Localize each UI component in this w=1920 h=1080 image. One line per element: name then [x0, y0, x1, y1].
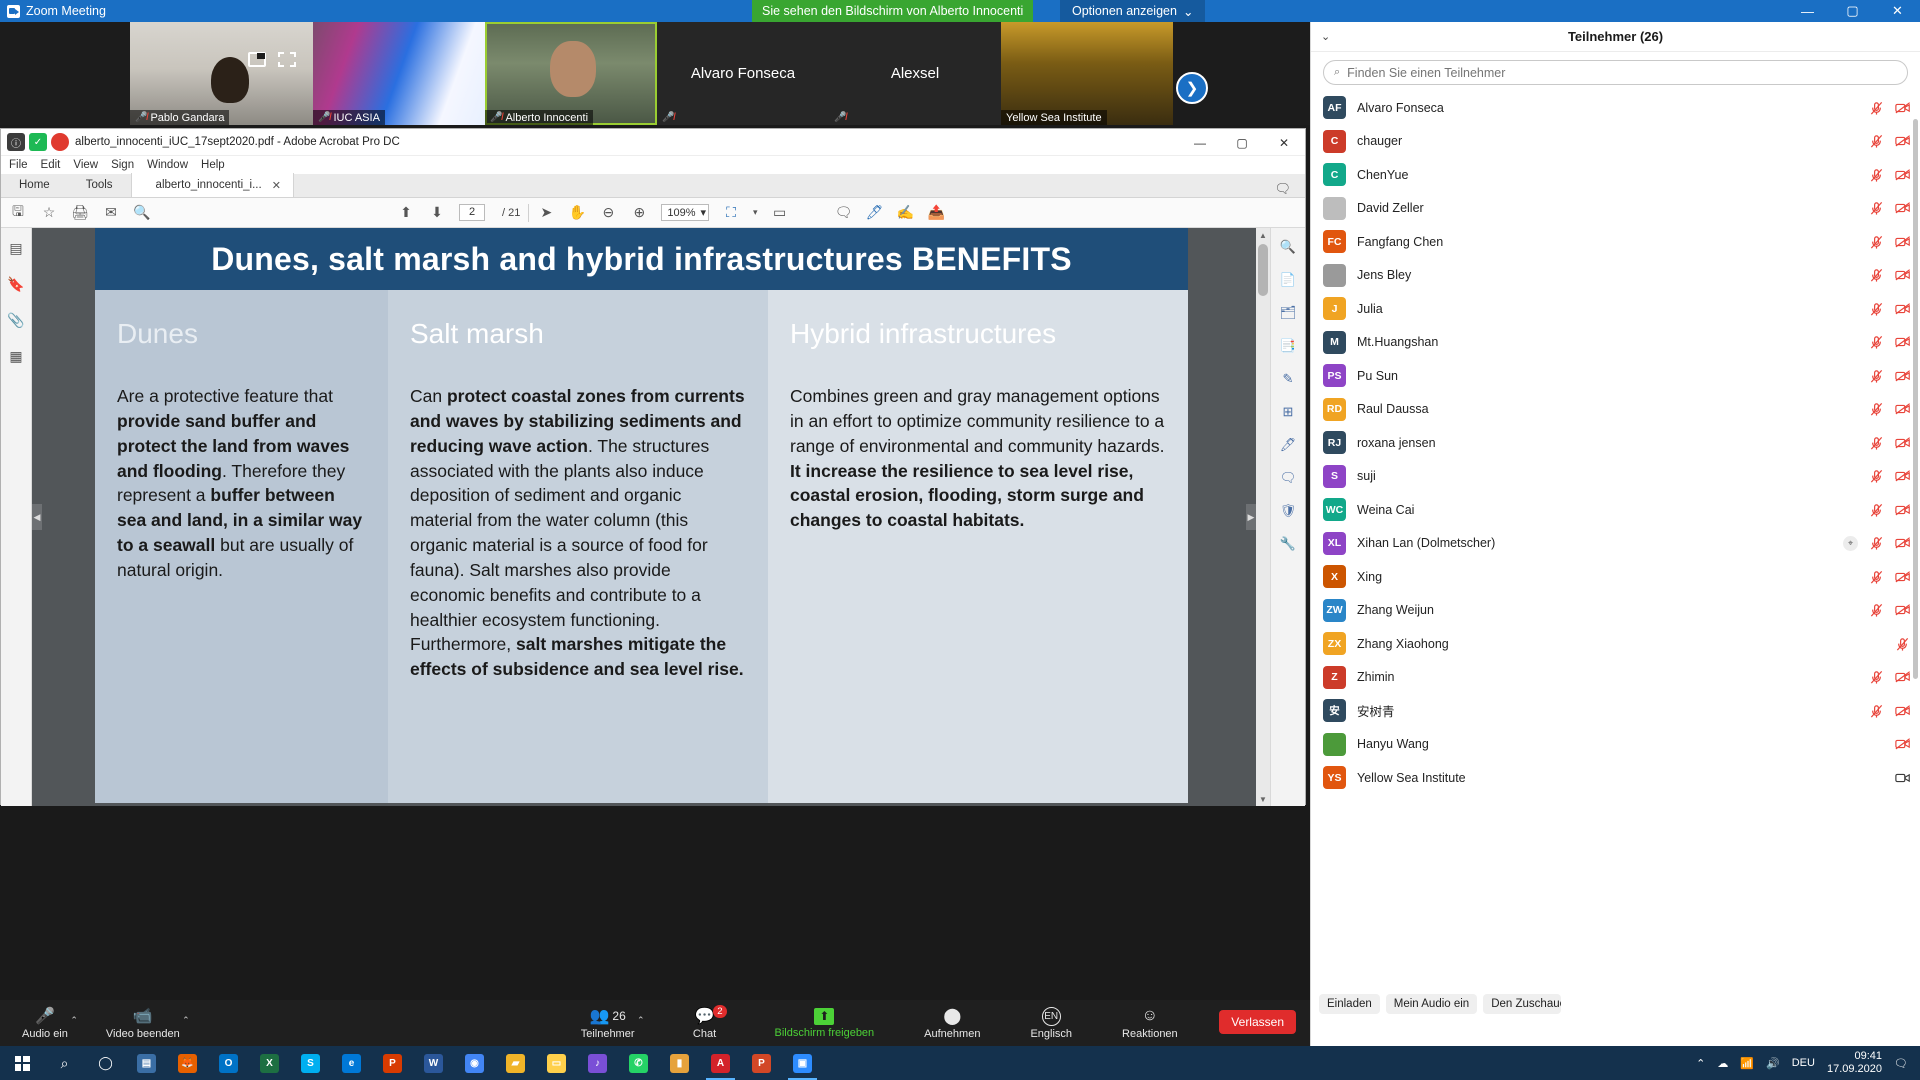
- toolbar-annotate-group: 🗨 🖊 ✍ 📤: [827, 204, 954, 222]
- acrobat-tabbar: Home Tools alberto_innocenti_i... ✕ 🗨: [1, 174, 1305, 198]
- participant-status-icons: [1869, 201, 1910, 215]
- shield-icon: ✓: [29, 133, 47, 151]
- participant-row[interactable]: FCFangfang Chen: [1311, 225, 1920, 259]
- powerpoint-icon: P: [752, 1054, 771, 1073]
- taskbar-app-word[interactable]: W: [413, 1046, 454, 1080]
- mic-off-icon[interactable]: [1869, 101, 1884, 115]
- toolbar-tools-group: ➤ ✋ ⊖ ⊕ 109% ▾ ⛶ ▾ ▭: [529, 204, 796, 222]
- participant-name: chauger: [1357, 134, 1858, 148]
- participant-status-icons: [1895, 637, 1910, 651]
- zoom-in-icon[interactable]: ⊕: [630, 204, 648, 222]
- participant-row[interactable]: Ssuji: [1311, 460, 1920, 494]
- participant-status-icons: [1869, 101, 1910, 115]
- zoom-window-buttons: — ▢ ✕: [1785, 0, 1920, 22]
- create-pdf-icon[interactable]: 📄: [1277, 269, 1299, 291]
- mic-off-icon[interactable]: [1869, 235, 1884, 249]
- page-total-label: / 21: [502, 207, 520, 219]
- share-options-label: Optionen anzeigen: [1072, 4, 1177, 18]
- share-document-icon[interactable]: 📤: [928, 204, 946, 222]
- participant-name: Hanyu Wang: [1357, 737, 1884, 751]
- participant-row[interactable]: RJroxana jensen: [1311, 426, 1920, 460]
- menu-sign[interactable]: Sign: [111, 159, 134, 171]
- mic-off-icon: 🎤̸: [135, 112, 147, 123]
- slide-column-dunes: Dunes Are a protective feature that prov…: [95, 290, 388, 803]
- participant-search-box[interactable]: ⌕: [1323, 60, 1908, 85]
- participant-name: Zhang Weijun: [1357, 603, 1858, 617]
- export-pdf-icon[interactable]: 📑: [1277, 335, 1299, 357]
- participant-avatar: YS: [1323, 766, 1346, 789]
- menu-window[interactable]: Window: [147, 159, 188, 171]
- camera-off-icon[interactable]: [1895, 704, 1910, 718]
- interpretation-button[interactable]: EN Englisch: [1022, 1007, 1080, 1040]
- chevron-down-icon[interactable]: ▾: [753, 207, 758, 218]
- video-button[interactable]: 📹 Video beenden ⌃: [98, 1007, 188, 1040]
- participant-row[interactable]: MMt.Huangshan: [1311, 326, 1920, 360]
- share-options-button[interactable]: Optionen anzeigen ⌄: [1060, 0, 1205, 22]
- participants-panel-title: Teilnehmer (26): [1568, 29, 1663, 44]
- toolbar-nav-group: ⬆ ⬇ 2 / 21: [389, 204, 528, 222]
- share-screen-button[interactable]: ⬆ Bildschirm freigeben: [767, 1008, 883, 1039]
- taskbar-app-audacity[interactable]: ▮: [659, 1046, 700, 1080]
- page-thumbnails-icon[interactable]: ▤: [6, 238, 26, 258]
- leave-meeting-button[interactable]: Verlassen: [1219, 1010, 1296, 1034]
- zoom-toolbar-center: 👥26 Teilnehmer ⌃ 💬 2 Chat ⬆ Bildschirm f…: [573, 1007, 1186, 1040]
- taskbar-clock[interactable]: 09:41 17.09.2020: [1827, 1050, 1882, 1076]
- video-label: Video beenden: [106, 1028, 180, 1040]
- participant-name: Xihan Lan (Dolmetscher): [1357, 536, 1832, 550]
- search-icon[interactable]: 🔍: [133, 204, 151, 222]
- camera-off-icon[interactable]: [1895, 536, 1910, 550]
- mic-off-icon[interactable]: [1869, 503, 1884, 517]
- mic-off-icon[interactable]: [1869, 402, 1884, 416]
- tab-home[interactable]: Home: [1, 173, 68, 197]
- video-tile-namebar: 🎤̸: [829, 110, 851, 125]
- camera-off-icon[interactable]: [1895, 670, 1910, 684]
- mic-off-icon[interactable]: [1869, 469, 1884, 483]
- tray-expand-icon[interactable]: ⌃: [1696, 1057, 1705, 1070]
- protect-icon[interactable]: 🛡: [1277, 500, 1299, 522]
- camera-off-icon[interactable]: [1895, 235, 1910, 249]
- mic-off-icon[interactable]: [1869, 302, 1884, 316]
- mic-off-icon[interactable]: [1869, 134, 1884, 148]
- pdf-document-area[interactable]: Dunes, salt marsh and hybrid infrastruct…: [32, 228, 1270, 806]
- mic-off-icon[interactable]: [1869, 201, 1884, 215]
- video-tile-namebar: Yellow Sea Institute: [1001, 110, 1107, 125]
- video-tile-namebar: 🎤̸ Pablo Gandara: [130, 110, 229, 125]
- audio-label: Audio ein: [22, 1028, 68, 1040]
- taskbar-app-task-view[interactable]: ▤: [126, 1046, 167, 1080]
- participants-button[interactable]: 👥26 Teilnehmer ⌃: [573, 1007, 643, 1040]
- participant-avatar: S: [1323, 465, 1346, 488]
- participant-status-icons: [1869, 235, 1910, 249]
- mic-off-icon[interactable]: [1869, 369, 1884, 383]
- camera-off-icon[interactable]: [1895, 436, 1910, 450]
- mic-off-icon[interactable]: [1869, 536, 1884, 550]
- column-body: Combines green and gray management optio…: [790, 384, 1166, 533]
- maximize-button[interactable]: ▢: [1830, 0, 1875, 22]
- participant-name: Xing: [1357, 570, 1858, 584]
- scrollbar-thumb[interactable]: [1258, 244, 1268, 296]
- close-tab-icon[interactable]: ✕: [272, 179, 281, 192]
- minimize-view-icon[interactable]: [248, 52, 266, 67]
- bookmarks-icon[interactable]: 🔖: [6, 274, 26, 294]
- taskbar-search-button[interactable]: ⌕: [44, 1046, 85, 1080]
- menu-view[interactable]: View: [73, 159, 98, 171]
- participant-status-icons: [1869, 670, 1910, 684]
- slide-columns: Dunes Are a protective feature that prov…: [95, 290, 1188, 803]
- participants-list[interactable]: AFAlvaro FonsecaCchaugerCChenYueDavid Ze…: [1311, 91, 1920, 997]
- mic-off-icon: 🎤̸: [662, 112, 674, 123]
- zoom-logo-icon: [7, 5, 20, 18]
- mic-off-icon[interactable]: [1869, 335, 1884, 349]
- participant-status-icons: [1869, 603, 1910, 617]
- video-tile-alvaro-fonseca[interactable]: Alvaro Fonseca 🎤̸: [657, 22, 829, 125]
- fill-sign-icon[interactable]: 🖊: [1277, 434, 1299, 456]
- participant-name: Julia: [1357, 302, 1858, 316]
- camera-off-icon[interactable]: [1895, 101, 1910, 115]
- next-page-icon[interactable]: ⬇: [428, 204, 446, 222]
- clock-time: 09:41: [1855, 1050, 1883, 1063]
- record-label: Aufnehmen: [924, 1028, 980, 1040]
- mic-off-icon[interactable]: [1869, 268, 1884, 282]
- camera-on-icon[interactable]: [1895, 771, 1910, 785]
- close-button[interactable]: ✕: [1875, 0, 1920, 22]
- video-tile-namebar: 🎤̸: [657, 110, 679, 125]
- taskbar-app-chrome[interactable]: ◉: [454, 1046, 495, 1080]
- zoom-icon: ▣: [793, 1054, 812, 1073]
- participant-name: Zhang Xiaohong: [1357, 637, 1884, 651]
- participant-row[interactable]: YSYellow Sea Institute: [1311, 761, 1920, 795]
- participant-row[interactable]: Jens Bley: [1311, 259, 1920, 293]
- participant-name: Mt.Huangshan: [1357, 335, 1858, 349]
- edit-pdf-icon[interactable]: ✎: [1277, 368, 1299, 390]
- folder-icon: ▰: [506, 1054, 525, 1073]
- participant-status-icons: [1895, 771, 1910, 785]
- explorer-icon: ▭: [547, 1054, 566, 1073]
- participant-avatar: PS: [1323, 364, 1346, 387]
- acrobat-window-buttons: — ▢ ✕: [1179, 129, 1305, 156]
- video-tile-pablo-gandara[interactable]: 🎤̸ Pablo Gandara: [130, 22, 313, 125]
- video-options-caret-icon[interactable]: ⌃: [182, 1015, 190, 1026]
- participant-status-icons: [1869, 570, 1910, 584]
- pdf-page: Dunes, salt marsh and hybrid infrastruct…: [95, 228, 1188, 803]
- comment-tool-icon[interactable]: 🗨: [1277, 467, 1299, 489]
- slide-title: Dunes, salt marsh and hybrid infrastruct…: [211, 241, 1072, 278]
- camera-icon: 📹: [133, 1007, 153, 1026]
- select-cursor-icon[interactable]: ➤: [537, 204, 555, 222]
- taskbar-app-excel[interactable]: X: [249, 1046, 290, 1080]
- scroll-down-arrow[interactable]: ▼: [1256, 792, 1270, 806]
- participants-panel: ⌄ Teilnehmer (26) ⌕ AFAlvaro FonsecaCcha…: [1310, 22, 1920, 1046]
- zoom-titlebar: Zoom Meeting Sie sehen den Bildschirm vo…: [0, 0, 1920, 22]
- audio-button[interactable]: 🎤 Audio ein ⌃: [14, 1007, 76, 1040]
- tab-tools[interactable]: Tools: [68, 173, 131, 197]
- minimize-button[interactable]: —: [1785, 0, 1830, 22]
- participant-status-icons: [1869, 335, 1910, 349]
- slide-column-salt-marsh: Salt marsh Can protect coastal zones fro…: [388, 290, 768, 803]
- camera-off-icon[interactable]: [1895, 603, 1910, 617]
- participant-status-icons: [1869, 268, 1910, 282]
- participant-avatar: C: [1323, 163, 1346, 186]
- tab-document[interactable]: alberto_innocenti_i... ✕: [131, 173, 294, 197]
- firefox-icon: 🦊: [178, 1054, 197, 1073]
- collapse-right-panel-handle[interactable]: ▶: [1246, 504, 1256, 530]
- taskbar-app-outlook[interactable]: O: [208, 1046, 249, 1080]
- participant-search-input[interactable]: [1347, 66, 1897, 80]
- camera-off-icon[interactable]: [1895, 302, 1910, 316]
- camera-off-icon[interactable]: [1895, 570, 1910, 584]
- taskbar-app-folder[interactable]: ▰: [495, 1046, 536, 1080]
- participant-row[interactable]: CChenYue: [1311, 158, 1920, 192]
- mic-off-icon[interactable]: [1869, 670, 1884, 684]
- camera-off-icon[interactable]: [1895, 168, 1910, 182]
- pdf-vertical-scrollbar[interactable]: ▲ ▼: [1256, 228, 1270, 806]
- participant-status-icons: [1869, 168, 1910, 182]
- participant-row[interactable]: XXing: [1311, 560, 1920, 594]
- reactions-smiley-icon: ☺: [1142, 1007, 1158, 1026]
- taskbar-app-edge[interactable]: e: [331, 1046, 372, 1080]
- taskbar-app-powerpoint[interactable]: P: [741, 1046, 782, 1080]
- record-button[interactable]: ⬤ Aufnehmen: [916, 1007, 988, 1040]
- acrobat-titlebar: ⓘ ✓ alberto_innocenti_iUC_17sept2020.pdf…: [1, 129, 1305, 156]
- mic-off-icon[interactable]: [1869, 168, 1884, 182]
- taskbar-app-paint[interactable]: P: [372, 1046, 413, 1080]
- video-tile-name: Alberto Innocenti: [505, 112, 588, 124]
- participant-status-icons: [1869, 436, 1910, 450]
- taskbar-app-whatsapp[interactable]: ✆: [618, 1046, 659, 1080]
- camera-off-icon[interactable]: [1895, 335, 1910, 349]
- acrobat-toolbar: 🖫 ☆ 🖨 ✉ 🔍 ⬆ ⬇ 2 / 21 ➤ ✋ ⊖ ⊕ 109%: [1, 198, 1305, 228]
- participant-status-icons: [1869, 704, 1910, 718]
- participant-status-icons: [1869, 134, 1910, 148]
- camera-off-icon[interactable]: [1895, 134, 1910, 148]
- participant-row[interactable]: Hanyu Wang: [1311, 728, 1920, 762]
- participant-status-icons: [1895, 737, 1910, 751]
- participant-name: Weina Cai: [1357, 503, 1858, 517]
- collapse-panel-icon[interactable]: ⌄: [1321, 30, 1330, 43]
- fit-page-icon[interactable]: ⛶: [722, 204, 740, 222]
- scroll-up-arrow[interactable]: ▲: [1256, 228, 1270, 242]
- collapse-left-panel-handle[interactable]: ◀: [32, 504, 42, 530]
- video-tile-iuc-asia[interactable]: 🎤̸ IUC ASIA: [313, 22, 485, 125]
- search-icon: ⌕: [1334, 66, 1340, 79]
- participant-row[interactable]: JJulia: [1311, 292, 1920, 326]
- participant-status-icons: [1869, 369, 1910, 383]
- mic-off-icon[interactable]: [1869, 603, 1884, 617]
- participants-scrollbar-thumb[interactable]: [1913, 119, 1918, 679]
- zoom-toolbar-left: 🎤 Audio ein ⌃ 📹 Video beenden ⌃: [14, 1007, 188, 1040]
- notifications-icon[interactable]: 🗨: [1894, 1057, 1908, 1070]
- participant-row[interactable]: PSPu Sun: [1311, 359, 1920, 393]
- column-heading: Salt marsh: [410, 318, 746, 350]
- participant-name: Yellow Sea Institute: [1357, 771, 1884, 785]
- chevron-down-icon: ⌄: [1183, 4, 1193, 19]
- participant-avatar: 安: [1323, 699, 1346, 722]
- keyboard-language[interactable]: DEU: [1792, 1057, 1815, 1069]
- participant-avatar: C: [1323, 130, 1346, 153]
- column-heading: Dunes: [117, 318, 366, 350]
- video-tile-name: Pablo Gandara: [150, 112, 224, 124]
- camera-off-icon[interactable]: [1895, 503, 1910, 517]
- star-icon[interactable]: ☆: [40, 204, 58, 222]
- fullscreen-icon[interactable]: [278, 52, 296, 67]
- video-tile-name: IUC ASIA: [333, 112, 379, 124]
- camera-off-icon[interactable]: [1895, 369, 1910, 383]
- participant-status-icons: [1869, 503, 1910, 517]
- participant-row[interactable]: ZWZhang Weijun: [1311, 594, 1920, 628]
- acrobat-minimize-button[interactable]: —: [1179, 129, 1221, 156]
- reactions-button[interactable]: ☺ Reaktionen: [1114, 1007, 1186, 1040]
- audio-options-caret-icon[interactable]: ⌃: [70, 1015, 78, 1026]
- hand-tool-icon[interactable]: ✋: [568, 204, 586, 222]
- mic-off-icon[interactable]: [1895, 637, 1910, 651]
- layers-icon[interactable]: ▦: [6, 346, 26, 366]
- previous-page-icon[interactable]: ⬆: [397, 204, 415, 222]
- participant-name: Pu Sun: [1357, 369, 1858, 383]
- taskbar-app-skype[interactable]: S: [290, 1046, 331, 1080]
- share-screen-label: Bildschirm freigeben: [775, 1027, 875, 1039]
- unmute-me-button[interactable]: Mein Audio ein: [1386, 994, 1477, 1014]
- mic-off-icon: 🎤̸: [834, 112, 846, 123]
- participants-panel-footer: Einladen Mein Audio ein Den Zuschauern g…: [1311, 989, 1569, 1019]
- save-icon[interactable]: 🖫: [9, 204, 27, 222]
- filmstrip-spacer: [0, 22, 130, 125]
- edge-icon: e: [342, 1054, 361, 1073]
- taskbar-app-list: ▤🦊OXSePW◉▰▭♪✆▮AP▣: [126, 1046, 823, 1080]
- camera-off-icon[interactable]: [1895, 737, 1910, 751]
- participant-row[interactable]: RDRaul Daussa: [1311, 393, 1920, 427]
- mic-off-icon: 🎤: [35, 1007, 55, 1026]
- chat-button[interactable]: 💬 2 Chat: [677, 1007, 733, 1040]
- task-view-icon: ▤: [137, 1054, 156, 1073]
- filmstrip-view-icons: [248, 52, 296, 67]
- participants-count: 26: [612, 1009, 625, 1023]
- taskbar-app-media[interactable]: ♪: [577, 1046, 618, 1080]
- video-tile-placeholder-name: Alexsel: [891, 65, 939, 82]
- video-tile-alberto-innocenti[interactable]: 🎤̸ Alberto Innocenti: [485, 22, 657, 125]
- participant-avatar: RD: [1323, 398, 1346, 421]
- zoom-out-icon[interactable]: ⊖: [599, 204, 617, 222]
- participant-row[interactable]: WCWeina Cai: [1311, 493, 1920, 527]
- taskbar-app-zoom[interactable]: ▣: [782, 1046, 823, 1080]
- video-tile-yellow-sea-institute[interactable]: Yellow Sea Institute: [1001, 22, 1173, 125]
- participant-row[interactable]: David Zeller: [1311, 192, 1920, 226]
- invite-button[interactable]: Einladen: [1319, 994, 1380, 1014]
- participants-icon: 👥26: [589, 1007, 625, 1026]
- screen-share-banner: Sie sehen den Bildschirm von Alberto Inn…: [752, 0, 1033, 22]
- participant-avatar: FC: [1323, 230, 1346, 253]
- comment-balloon-icon[interactable]: 🗨: [1274, 181, 1291, 197]
- allow-attendees-button[interactable]: Den Zuschauern gestatten, di: [1483, 994, 1561, 1014]
- participant-avatar: J: [1323, 297, 1346, 320]
- participant-row[interactable]: XLXihan Lan (Dolmetscher)⌖: [1311, 527, 1920, 561]
- participant-avatar: ZX: [1323, 632, 1346, 655]
- network-icon[interactable]: 📶: [1740, 1057, 1754, 1070]
- info-icon: ⓘ: [7, 133, 25, 151]
- taskbar-cortana-button[interactable]: ◯: [85, 1046, 126, 1080]
- participants-caret-icon[interactable]: ⌃: [637, 1015, 645, 1026]
- sign-icon[interactable]: ✍: [897, 204, 915, 222]
- participant-avatar: XL: [1323, 532, 1346, 555]
- read-mode-icon[interactable]: ▭: [771, 204, 789, 222]
- participant-row[interactable]: Cchauger: [1311, 125, 1920, 159]
- start-button[interactable]: [0, 1046, 44, 1080]
- camera-off-icon[interactable]: [1895, 201, 1910, 215]
- menu-help[interactable]: Help: [201, 159, 225, 171]
- onedrive-icon[interactable]: ☁: [1717, 1057, 1728, 1070]
- page-number-input[interactable]: 2: [459, 204, 485, 221]
- email-icon[interactable]: ✉: [102, 204, 120, 222]
- comment-icon[interactable]: 🗨: [835, 204, 853, 222]
- zoom-level-select[interactable]: 109% ▾: [661, 204, 709, 221]
- volume-icon[interactable]: 🔊: [1766, 1057, 1780, 1070]
- camera-off-icon[interactable]: [1895, 402, 1910, 416]
- combine-files-icon[interactable]: 🗂: [1277, 302, 1299, 324]
- participant-name: Jens Bley: [1357, 268, 1858, 282]
- taskbar-app-acrobat[interactable]: A: [700, 1046, 741, 1080]
- print-icon[interactable]: 🖨: [71, 204, 89, 222]
- skype-icon: S: [301, 1054, 320, 1073]
- attachments-icon[interactable]: 📎: [6, 310, 26, 330]
- participant-row[interactable]: AFAlvaro Fonseca: [1311, 91, 1920, 125]
- highlight-icon[interactable]: 🖊: [866, 204, 884, 222]
- acrobat-maximize-button[interactable]: ▢: [1221, 129, 1263, 156]
- organize-pages-icon[interactable]: ⊞: [1277, 401, 1299, 423]
- mic-off-icon[interactable]: [1869, 704, 1884, 718]
- participant-avatar: [1323, 264, 1346, 287]
- whatsapp-icon: ✆: [629, 1054, 648, 1073]
- taskbar-app-firefox[interactable]: 🦊: [167, 1046, 208, 1080]
- participant-avatar: WC: [1323, 498, 1346, 521]
- participant-name: David Zeller: [1357, 201, 1858, 215]
- reactions-label: Reaktionen: [1122, 1028, 1178, 1040]
- excel-icon: X: [260, 1054, 279, 1073]
- participant-row[interactable]: 安安树青: [1311, 694, 1920, 728]
- taskbar-app-explorer[interactable]: ▭: [536, 1046, 577, 1080]
- acrobat-title-icons: ⓘ ✓: [1, 133, 69, 151]
- menu-file[interactable]: File: [9, 159, 28, 171]
- participant-row[interactable]: ZZhimin: [1311, 661, 1920, 695]
- search-tool-icon[interactable]: 🔍: [1277, 236, 1299, 258]
- participant-name: roxana jensen: [1357, 436, 1858, 450]
- camera-off-icon[interactable]: [1895, 469, 1910, 483]
- record-dot-icon: [51, 133, 69, 151]
- participant-avatar: [1323, 197, 1346, 220]
- mic-off-icon[interactable]: [1869, 436, 1884, 450]
- mic-off-icon[interactable]: [1869, 570, 1884, 584]
- more-tools-icon[interactable]: 🔧: [1277, 533, 1299, 555]
- share-banner-text: Sie sehen den Bildschirm von Alberto Inn…: [762, 4, 1023, 18]
- acrobat-close-button[interactable]: ✕: [1263, 129, 1305, 156]
- mic-off-icon: 🎤̸: [318, 112, 330, 123]
- acrobat-left-rail: ▤ 🔖 📎 ▦: [1, 228, 32, 806]
- zoom-level-value: 109%: [667, 207, 695, 219]
- menu-edit[interactable]: Edit: [41, 159, 61, 171]
- participant-row[interactable]: ZXZhang Xiaohong: [1311, 627, 1920, 661]
- participant-avatar: Z: [1323, 666, 1346, 689]
- participant-status-icons: ⌖: [1843, 536, 1910, 551]
- filmstrip-next-button[interactable]: ❯: [1176, 72, 1208, 104]
- camera-off-icon[interactable]: [1895, 268, 1910, 282]
- video-tile-alexsel[interactable]: Alexsel 🎤̸: [829, 22, 1001, 125]
- participant-avatar: M: [1323, 331, 1346, 354]
- video-tile-namebar: 🎤̸ IUC ASIA: [313, 110, 385, 125]
- toolbar-file-group: 🖫 ☆ 🖨 ✉ 🔍: [1, 204, 159, 222]
- zoom-toolbar: 🎤 Audio ein ⌃ 📹 Video beenden ⌃ 👥26 Teil…: [0, 1000, 1310, 1046]
- participant-name: Alvaro Fonseca: [1357, 101, 1858, 115]
- chevron-down-icon: ▾: [701, 206, 707, 219]
- participant-avatar: AF: [1323, 96, 1346, 119]
